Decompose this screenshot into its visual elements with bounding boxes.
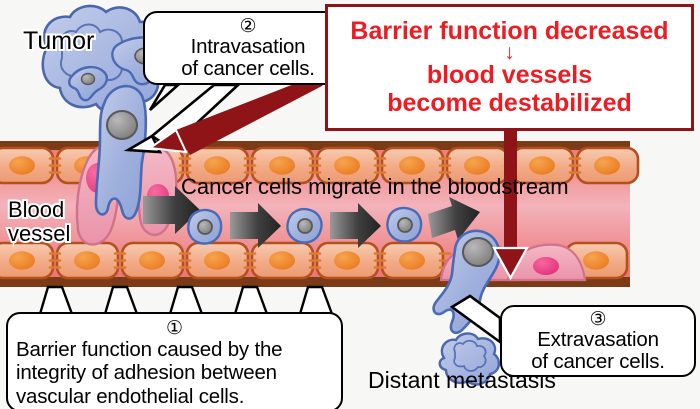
- callout-3-line1: Extravasation: [537, 329, 659, 351]
- figure-canvas: Tumor Blood vessel Cancer cells migrate …: [0, 0, 700, 409]
- callout-extravasation[interactable]: ③ Extravasation of cancer cells.: [500, 305, 696, 377]
- callout-intravasation[interactable]: ② Intravasation of cancer cells.: [143, 11, 354, 85]
- red-box-line3: become destabilized: [387, 90, 632, 118]
- callout-2-number: ②: [239, 17, 256, 36]
- blood-vessel-label-line2: vessel: [8, 222, 70, 246]
- tumor-label: Tumor: [23, 28, 94, 55]
- callout-3-number: ③: [589, 310, 606, 329]
- callout-barrier-function[interactable]: ① Barrier function caused by the integri…: [6, 312, 343, 409]
- callout-1-line2: integrity of adhesion between: [16, 361, 277, 384]
- barrier-decrease-box[interactable]: Barrier function decreased ↓ blood vesse…: [325, 4, 694, 131]
- intravasating-cancer-cell: [96, 86, 146, 218]
- callout-1-number: ①: [166, 319, 183, 338]
- callout-2-line2: of cancer cells.: [181, 58, 315, 80]
- red-box-line2: blood vessels: [427, 62, 592, 90]
- callout-2-line1: Intravasation: [191, 36, 306, 58]
- callout-1-line1: Barrier function caused by the: [16, 338, 282, 361]
- callout-1-line3: vascular endothelial cells.: [16, 385, 244, 408]
- bloodstream-label: Cancer cells migrate in the bloodstream: [181, 175, 569, 199]
- callout-1-pointers: [40, 287, 332, 314]
- blood-vessel-label-line1: Blood: [8, 198, 70, 222]
- blood-vessel-label: Blood vessel: [8, 198, 70, 246]
- callout-3-line2: of cancer cells.: [531, 351, 665, 373]
- down-arrow-icon: ↓: [504, 45, 515, 62]
